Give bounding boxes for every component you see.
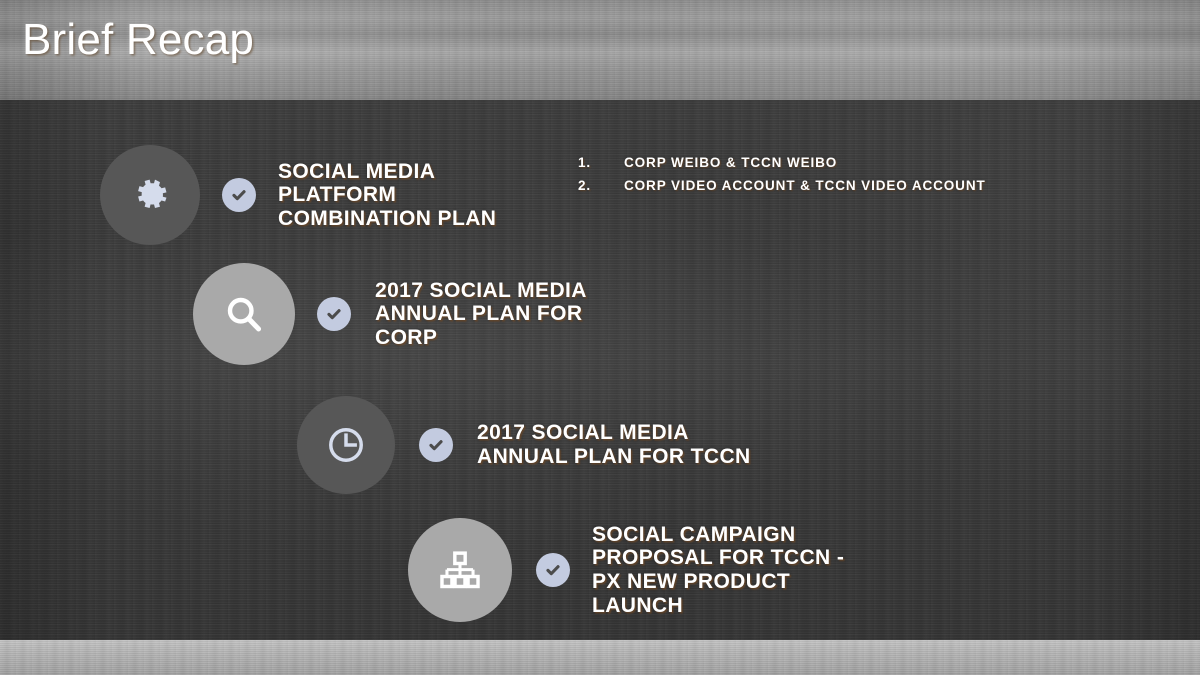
clock-icon — [324, 423, 368, 467]
slide: Brief Recap SOCIAL MEDIA PLATFORM COMBIN… — [0, 0, 1200, 675]
sub-numbered-list: 1. CORP WEIBO & TCCN WEIBO 2. CORP VIDEO… — [578, 155, 986, 201]
gear-icon — [127, 172, 173, 218]
recap-item-3-label: 2017 SOCIAL MEDIA ANNUAL PLAN FOR TCCN — [477, 421, 751, 468]
gear-icon-circle — [100, 145, 200, 245]
check-mark-icon — [542, 559, 564, 581]
recap-item-2[interactable]: 2017 SOCIAL MEDIA ANNUAL PLAN FOR CORP — [193, 263, 587, 365]
clock-icon-circle — [297, 396, 395, 494]
list-item-number: 1. — [578, 155, 624, 170]
check-circle-icon — [317, 297, 351, 331]
check-circle-icon — [419, 428, 453, 462]
recap-item-4[interactable]: SOCIAL CAMPAIGN PROPOSAL FOR TCCN - PX N… — [408, 518, 844, 622]
check-circle-icon — [536, 553, 570, 587]
search-icon — [221, 291, 267, 337]
check-mark-icon — [228, 184, 250, 206]
list-item: 2. CORP VIDEO ACCOUNT & TCCN VIDEO ACCOU… — [578, 178, 986, 193]
page-title: Brief Recap — [22, 15, 254, 65]
list-item-label: CORP VIDEO ACCOUNT & TCCN VIDEO ACCOUNT — [624, 178, 986, 193]
org-chart-icon-circle — [408, 518, 512, 622]
check-mark-icon — [323, 303, 345, 325]
list-item-number: 2. — [578, 178, 624, 193]
recap-item-3[interactable]: 2017 SOCIAL MEDIA ANNUAL PLAN FOR TCCN — [297, 396, 751, 494]
recap-item-2-label: 2017 SOCIAL MEDIA ANNUAL PLAN FOR CORP — [375, 279, 587, 350]
list-item: 1. CORP WEIBO & TCCN WEIBO — [578, 155, 986, 170]
org-chart-icon — [437, 547, 483, 593]
recap-item-1[interactable]: SOCIAL MEDIA PLATFORM COMBINATION PLAN — [100, 145, 496, 245]
check-circle-icon — [222, 178, 256, 212]
recap-item-1-label: SOCIAL MEDIA PLATFORM COMBINATION PLAN — [278, 160, 496, 231]
check-mark-icon — [425, 434, 447, 456]
footer-band — [0, 640, 1200, 675]
recap-item-4-label: SOCIAL CAMPAIGN PROPOSAL FOR TCCN - PX N… — [592, 523, 844, 617]
list-item-label: CORP WEIBO & TCCN WEIBO — [624, 155, 837, 170]
search-icon-circle — [193, 263, 295, 365]
